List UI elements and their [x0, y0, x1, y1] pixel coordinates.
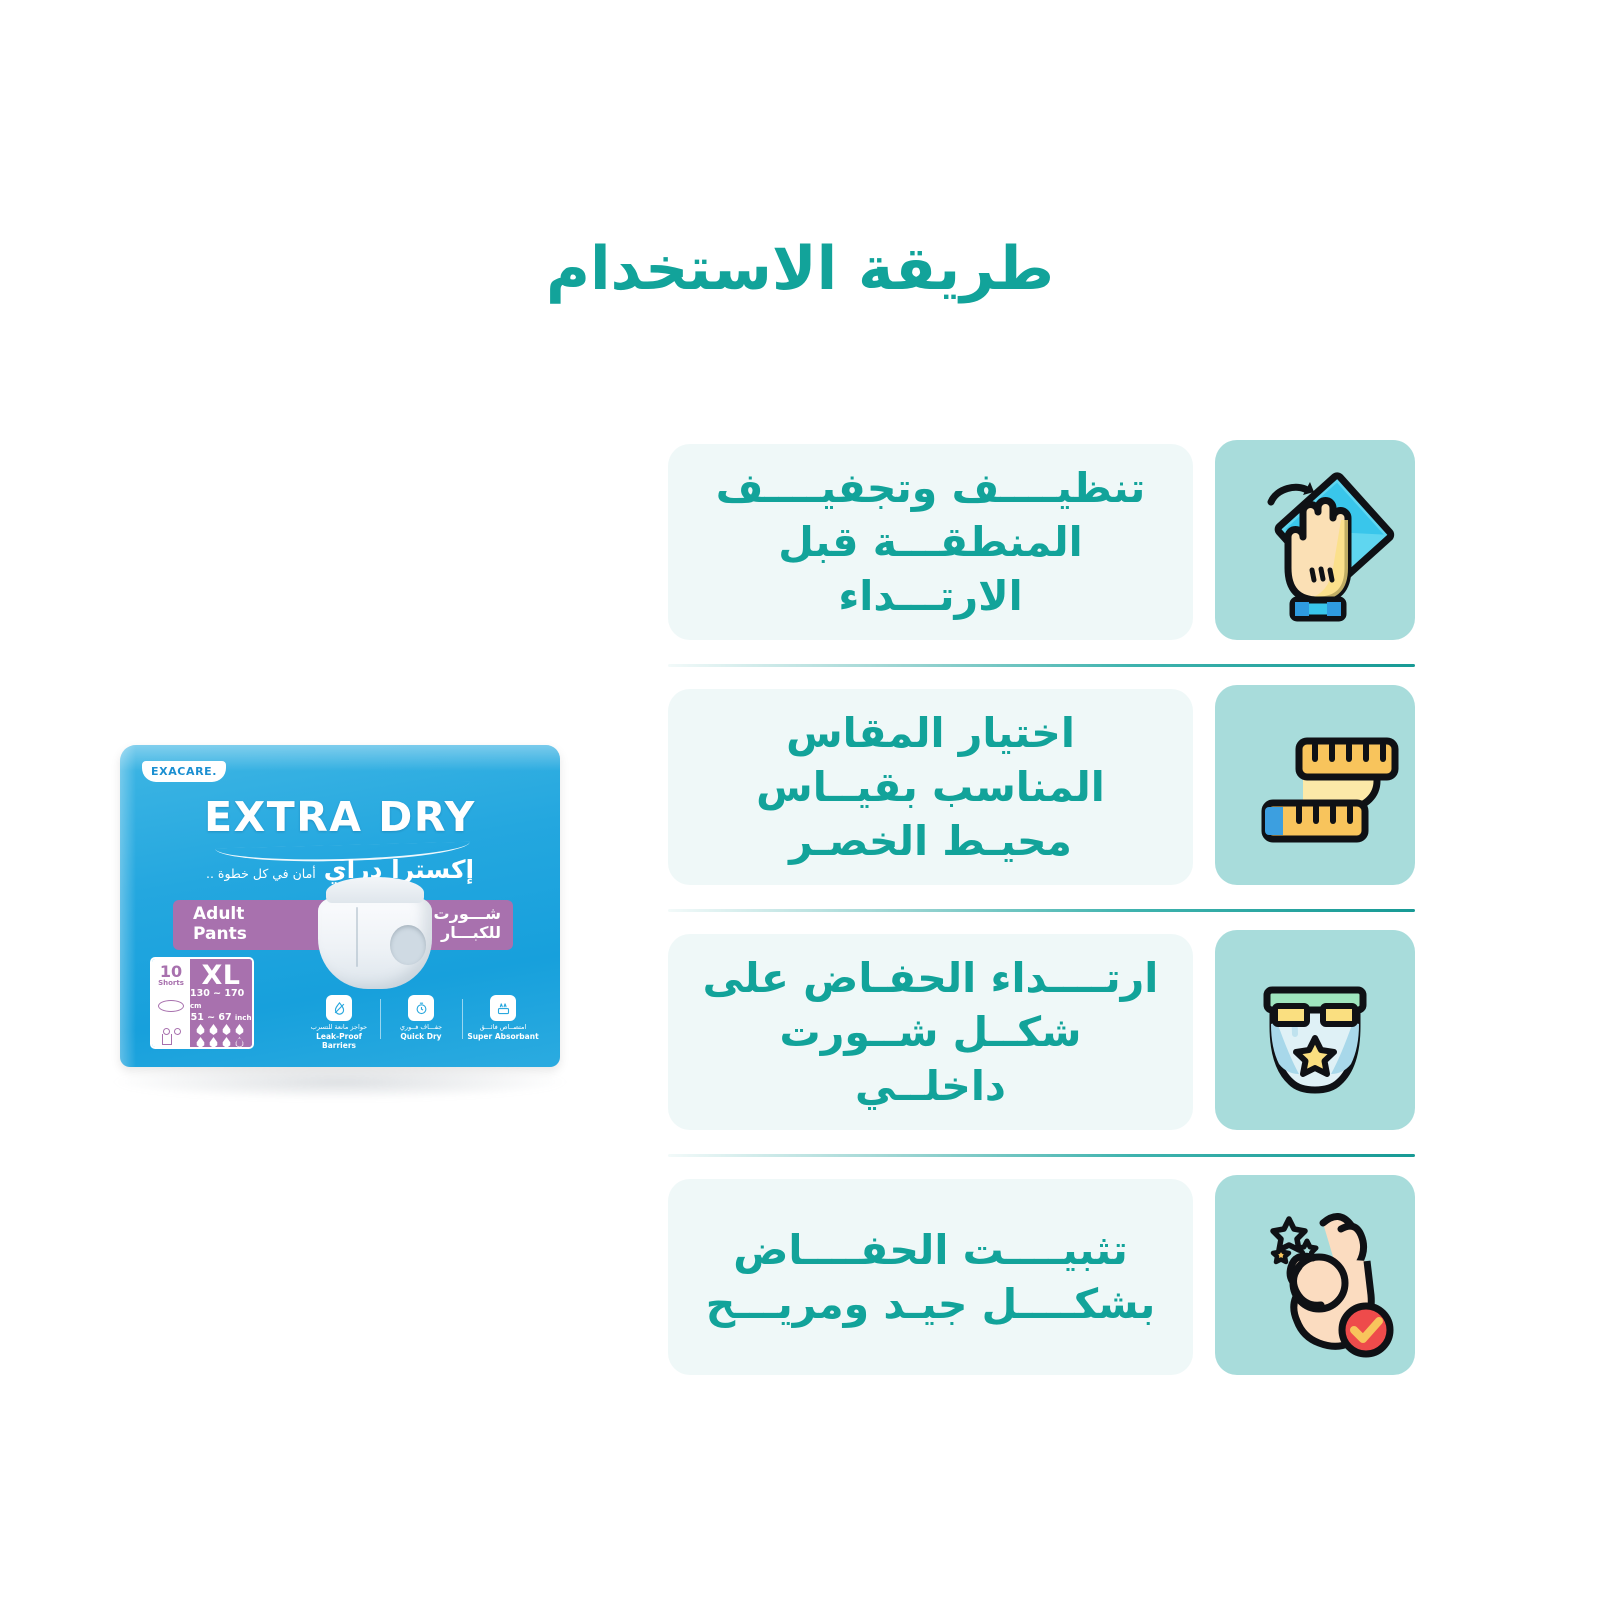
band-label-ar-line2: للكبـــار	[434, 923, 501, 942]
waist-dimensions-cell: 130 ~ 170 cm 51 ~ 67 inch	[190, 991, 252, 1021]
drop-filled	[196, 1024, 205, 1035]
step-2-text: اختيار المقاس المناسب بقيــاس محيـط الخص…	[698, 706, 1163, 868]
absorbency-drops-icon	[196, 1024, 246, 1048]
step-divider	[668, 909, 1415, 912]
step-2-icon-tile	[1215, 685, 1415, 885]
feature-label-en: Leak-Proof Barriers	[298, 1032, 380, 1050]
feature-label-en: Super Absorbant	[462, 1032, 544, 1041]
diaper-icon	[1215, 930, 1415, 1130]
step-4-card[interactable]: تثبيــــت الحفــــاض بشكــــل جيـد ومريـ…	[668, 1179, 1193, 1375]
size-spec-table: 10 Shorts XL 130 ~ 170 cm 51 ~ 67 inch	[150, 957, 254, 1049]
band-label-en: Adult Pants	[193, 904, 247, 944]
usage-step-4: تثبيــــت الحفــــاض بشكــــل جيـد ومريـ…	[655, 1165, 1415, 1410]
feature-super-absorbant: امتصــاص فائـــق Super Absorbant	[462, 995, 544, 1050]
measuring-tape-icon	[1215, 685, 1415, 885]
drop-filled	[209, 1024, 218, 1035]
band-label-ar-line1: شـــورت	[434, 904, 501, 923]
band-label-en-line1: Adult	[193, 904, 247, 924]
step-4-text: تثبيــــت الحفــــاض بشكــــل جيـد ومريـ…	[698, 1223, 1163, 1331]
waist-cm-value: 130 ~ 170	[190, 988, 244, 999]
feature-label-en: Quick Dry	[380, 1032, 462, 1041]
step-3-text: ارتــــداء الحفـاض على شكــل شــورت داخل…	[698, 951, 1163, 1113]
step-1-icon-tile	[1215, 440, 1415, 640]
drop-filled	[222, 1037, 231, 1048]
pants-waistband	[326, 877, 424, 903]
product-package: EXACARE. EXTRA DRY إكسترا دراي أمان في ك…	[95, 735, 585, 1155]
feature-leak-proof: حواجز مانعة للتسرب Leak-Proof Barriers	[298, 995, 380, 1050]
hand-wipe-icon	[1215, 440, 1415, 640]
feature-label-ar: جفـــاف فــوري	[380, 1024, 462, 1031]
product-title-en: EXTRA DRY	[120, 793, 560, 841]
waist-cm: 130 ~ 170 cm	[190, 988, 252, 1012]
product-tagline-ar: أمان في كل خطوة ..	[206, 866, 316, 881]
band-label-en-line2: Pants	[193, 924, 247, 944]
male-figure-icon	[161, 1028, 170, 1044]
step-3-icon-tile	[1215, 930, 1415, 1130]
step-1-text: تنظيــــف وتجفيــــف المنطقـــة قبل الار…	[698, 461, 1163, 623]
step-divider	[668, 664, 1415, 667]
waist-circumference-icon	[158, 1000, 184, 1012]
pack-count-number: 10	[160, 964, 182, 980]
band-label-ar: شـــورت للكبـــار	[434, 904, 501, 942]
drop-empty	[235, 1037, 244, 1048]
adult-pants-photo	[316, 877, 434, 995]
usage-step-2: اختيار المقاس المناسب بقيــاس محيـط الخص…	[655, 675, 1415, 920]
drop-filled	[209, 1037, 218, 1048]
gender-icon-cell	[152, 1021, 190, 1049]
quick-dry-icon	[408, 995, 434, 1021]
size-cell: XL	[190, 959, 252, 991]
waist-cm-unit: cm	[190, 1002, 201, 1010]
package-shadow	[115, 1065, 565, 1099]
brand-logo: EXACARE.	[142, 761, 226, 782]
absorbency-cell	[190, 1021, 252, 1049]
usage-step-1: تنظيــــف وتجفيــــف المنطقـــة قبل الار…	[655, 430, 1415, 675]
package-features: حواجز مانعة للتسرب Leak-Proof Barriers ج…	[298, 995, 544, 1050]
drop-filled	[235, 1024, 244, 1035]
usage-step-3: ارتــــداء الحفـاض على شكــل شــورت داخل…	[655, 920, 1415, 1165]
ok-hand-icon	[1215, 1175, 1415, 1375]
drop-filled	[222, 1024, 231, 1035]
pack-count-label: Shorts	[158, 980, 184, 987]
pants-crease	[356, 907, 358, 967]
feature-quick-dry: جفـــاف فــوري Quick Dry	[380, 995, 462, 1050]
feature-label-ar: امتصــاص فائـــق	[462, 1024, 544, 1031]
feature-label-ar: حواجز مانعة للتسرب	[298, 1024, 380, 1031]
pack-count-cell: 10 Shorts	[152, 959, 190, 991]
leak-proof-icon	[326, 995, 352, 1021]
step-divider	[668, 1154, 1415, 1157]
super-absorbant-icon	[490, 995, 516, 1021]
drop-filled	[196, 1037, 205, 1048]
waist-icon-cell	[152, 991, 190, 1021]
step-2-card[interactable]: اختيار المقاس المناسب بقيــاس محيـط الخص…	[668, 689, 1193, 885]
usage-steps-list: تنظيــــف وتجفيــــف المنطقـــة قبل الار…	[655, 430, 1415, 1410]
page-title: طريقة الاستخدام	[0, 236, 1600, 302]
pants-leg-opening	[390, 925, 426, 965]
female-figure-icon	[172, 1028, 181, 1044]
step-1-card[interactable]: تنظيــــف وتجفيــــف المنطقـــة قبل الار…	[668, 444, 1193, 640]
step-3-card[interactable]: ارتــــداء الحفـاض على شكــل شــورت داخل…	[668, 934, 1193, 1130]
package-front: EXACARE. EXTRA DRY إكسترا دراي أمان في ك…	[120, 745, 560, 1067]
infographic-page: طريقة الاستخدام EXACARE. EXTRA DRY إكستر…	[0, 0, 1600, 1600]
step-4-icon-tile	[1215, 1175, 1415, 1375]
